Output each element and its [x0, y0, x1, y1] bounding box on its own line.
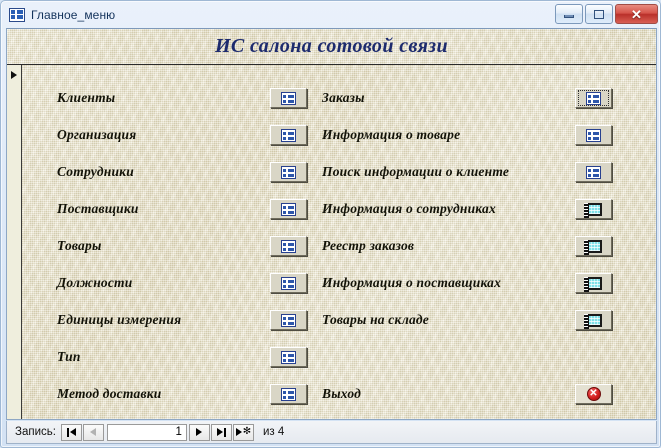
form-icon [586, 129, 601, 142]
last-record-button[interactable] [211, 424, 232, 441]
form-icon [281, 129, 296, 142]
open-reestr-zakazov-button[interactable] [575, 236, 612, 256]
open-dolzhnosti-button[interactable] [270, 273, 307, 293]
menu-item-organizaciya[interactable]: Организация [57, 124, 307, 146]
last-record-icon [217, 428, 226, 437]
record-navigator: Запись: 1 ✻ [6, 421, 657, 444]
report-icon [585, 203, 602, 216]
maximize-icon [594, 10, 604, 19]
minimize-button[interactable] [555, 4, 583, 24]
window-controls: ✕ [555, 4, 658, 24]
open-informaciya-o-postavshchikah-button[interactable] [575, 273, 612, 293]
form-icon [586, 166, 601, 179]
form-icon [281, 351, 296, 364]
access-form-window: Главное_меню ✕ ИС салона сотовой связи [0, 0, 661, 448]
open-metod-dostavki-button[interactable] [270, 384, 307, 404]
report-icon [585, 314, 602, 327]
open-informaciya-o-tovare-button[interactable] [575, 125, 612, 145]
menu-item-vyhod[interactable]: Выход ✕ [322, 383, 612, 405]
menu-item-metod-dostavki[interactable]: Метод доставки [57, 383, 307, 405]
menu-item-tip[interactable]: Тип [57, 346, 307, 368]
menu-item-klienty[interactable]: Клиенты [57, 87, 307, 109]
menu-item-informaciya-o-sotrudnikah[interactable]: Информация о сотрудниках [322, 198, 612, 220]
window-title: Главное_меню [31, 8, 115, 22]
open-organizaciya-button[interactable] [270, 125, 307, 145]
current-record-input[interactable]: 1 [107, 424, 187, 441]
menu-label: Товары на складе [322, 312, 575, 328]
form-header: ИС салона сотовой связи [7, 29, 656, 65]
open-tovary-na-sklade-button[interactable] [575, 310, 612, 330]
open-poisk-informacii-o-kliente-button[interactable] [575, 162, 612, 182]
menu-label: Должности [57, 275, 270, 291]
close-button[interactable]: ✕ [615, 4, 658, 24]
exit-button[interactable]: ✕ [575, 384, 612, 404]
menu-label: Товары [57, 238, 270, 254]
form-icon [281, 277, 296, 290]
menu-item-dolzhnosti[interactable]: Должности [57, 272, 307, 294]
record-label: Запись: [15, 426, 56, 438]
maximize-button[interactable] [585, 4, 613, 24]
menu-item-reestr-zakazov[interactable]: Реестр заказов [322, 235, 612, 257]
menu-label: Тип [57, 349, 270, 365]
current-record-value: 1 [176, 426, 182, 438]
minimize-icon [564, 15, 574, 18]
open-tovary-button[interactable] [270, 236, 307, 256]
menu-item-tovary[interactable]: Товары [57, 235, 307, 257]
form-icon [281, 240, 296, 253]
form-client-area: ИС салона сотовой связи Клиенты Организа… [6, 28, 657, 420]
exit-icon: ✕ [587, 387, 601, 401]
report-icon [585, 240, 602, 253]
menu-label: Информация о сотрудниках [322, 201, 575, 217]
menu-label: Заказы [322, 90, 575, 106]
menu-item-edinicy-izmereniya[interactable]: Единицы измерения [57, 309, 307, 331]
close-icon: ✕ [631, 8, 642, 21]
menu-item-sotrudniki[interactable]: Сотрудники [57, 161, 307, 183]
form-icon [281, 166, 296, 179]
menu-label: Метод доставки [57, 386, 270, 402]
menu-label: Информация о поставщиках [322, 275, 575, 291]
open-postavshchiki-button[interactable] [270, 199, 307, 219]
next-record-button[interactable] [189, 424, 210, 441]
menu-item-poisk-informacii-o-kliente[interactable]: Поиск информации о клиенте [322, 161, 612, 183]
open-informaciya-o-sotrudnikah-button[interactable] [575, 199, 612, 219]
menu-item-zakazy[interactable]: Заказы [322, 87, 612, 109]
form-icon [281, 92, 296, 105]
report-icon [585, 277, 602, 290]
menu-label: Поставщики [57, 201, 270, 217]
menu-label: Сотрудники [57, 164, 270, 180]
menu-item-tovary-na-sklade[interactable]: Товары на складе [322, 309, 612, 331]
open-edinicy-izmereniya-button[interactable] [270, 310, 307, 330]
menu-label: Клиенты [57, 90, 270, 106]
total-records-label: из 4 [263, 426, 284, 438]
new-record-icon: ✻ [236, 427, 251, 437]
menu-label: Поиск информации о клиенте [322, 164, 575, 180]
menu-item-informaciya-o-tovare[interactable]: Информация о товаре [322, 124, 612, 146]
page-title: ИС салона сотовой связи [215, 35, 448, 58]
menu-label: Информация о товаре [322, 127, 575, 143]
form-detail-section: Клиенты Организация Сотрудники [7, 65, 656, 419]
form-icon [586, 92, 601, 105]
next-record-icon [196, 428, 202, 436]
menu-item-informaciya-o-postavshchikah[interactable]: Информация о поставщиках [322, 272, 612, 294]
open-klienty-button[interactable] [270, 88, 307, 108]
menu-label: Реестр заказов [322, 238, 575, 254]
title-bar[interactable]: Главное_меню ✕ [1, 1, 661, 28]
record-selector[interactable] [7, 65, 22, 419]
open-tip-button[interactable] [270, 347, 307, 367]
form-icon [281, 203, 296, 216]
first-record-icon [67, 428, 76, 437]
previous-record-icon [90, 428, 96, 436]
menu-label: Единицы измерения [57, 312, 270, 328]
form-icon [281, 388, 296, 401]
new-record-button[interactable]: ✻ [233, 424, 254, 441]
previous-record-button[interactable] [83, 424, 104, 441]
menu-label: Выход [322, 386, 575, 402]
first-record-button[interactable] [61, 424, 82, 441]
record-selector-arrow-icon [11, 71, 17, 79]
open-sotrudniki-button[interactable] [270, 162, 307, 182]
form-icon [281, 314, 296, 327]
open-zakazy-button[interactable] [575, 88, 612, 108]
form-icon [9, 8, 25, 22]
menu-item-postavshchiki[interactable]: Поставщики [57, 198, 307, 220]
menu-label: Организация [57, 127, 270, 143]
